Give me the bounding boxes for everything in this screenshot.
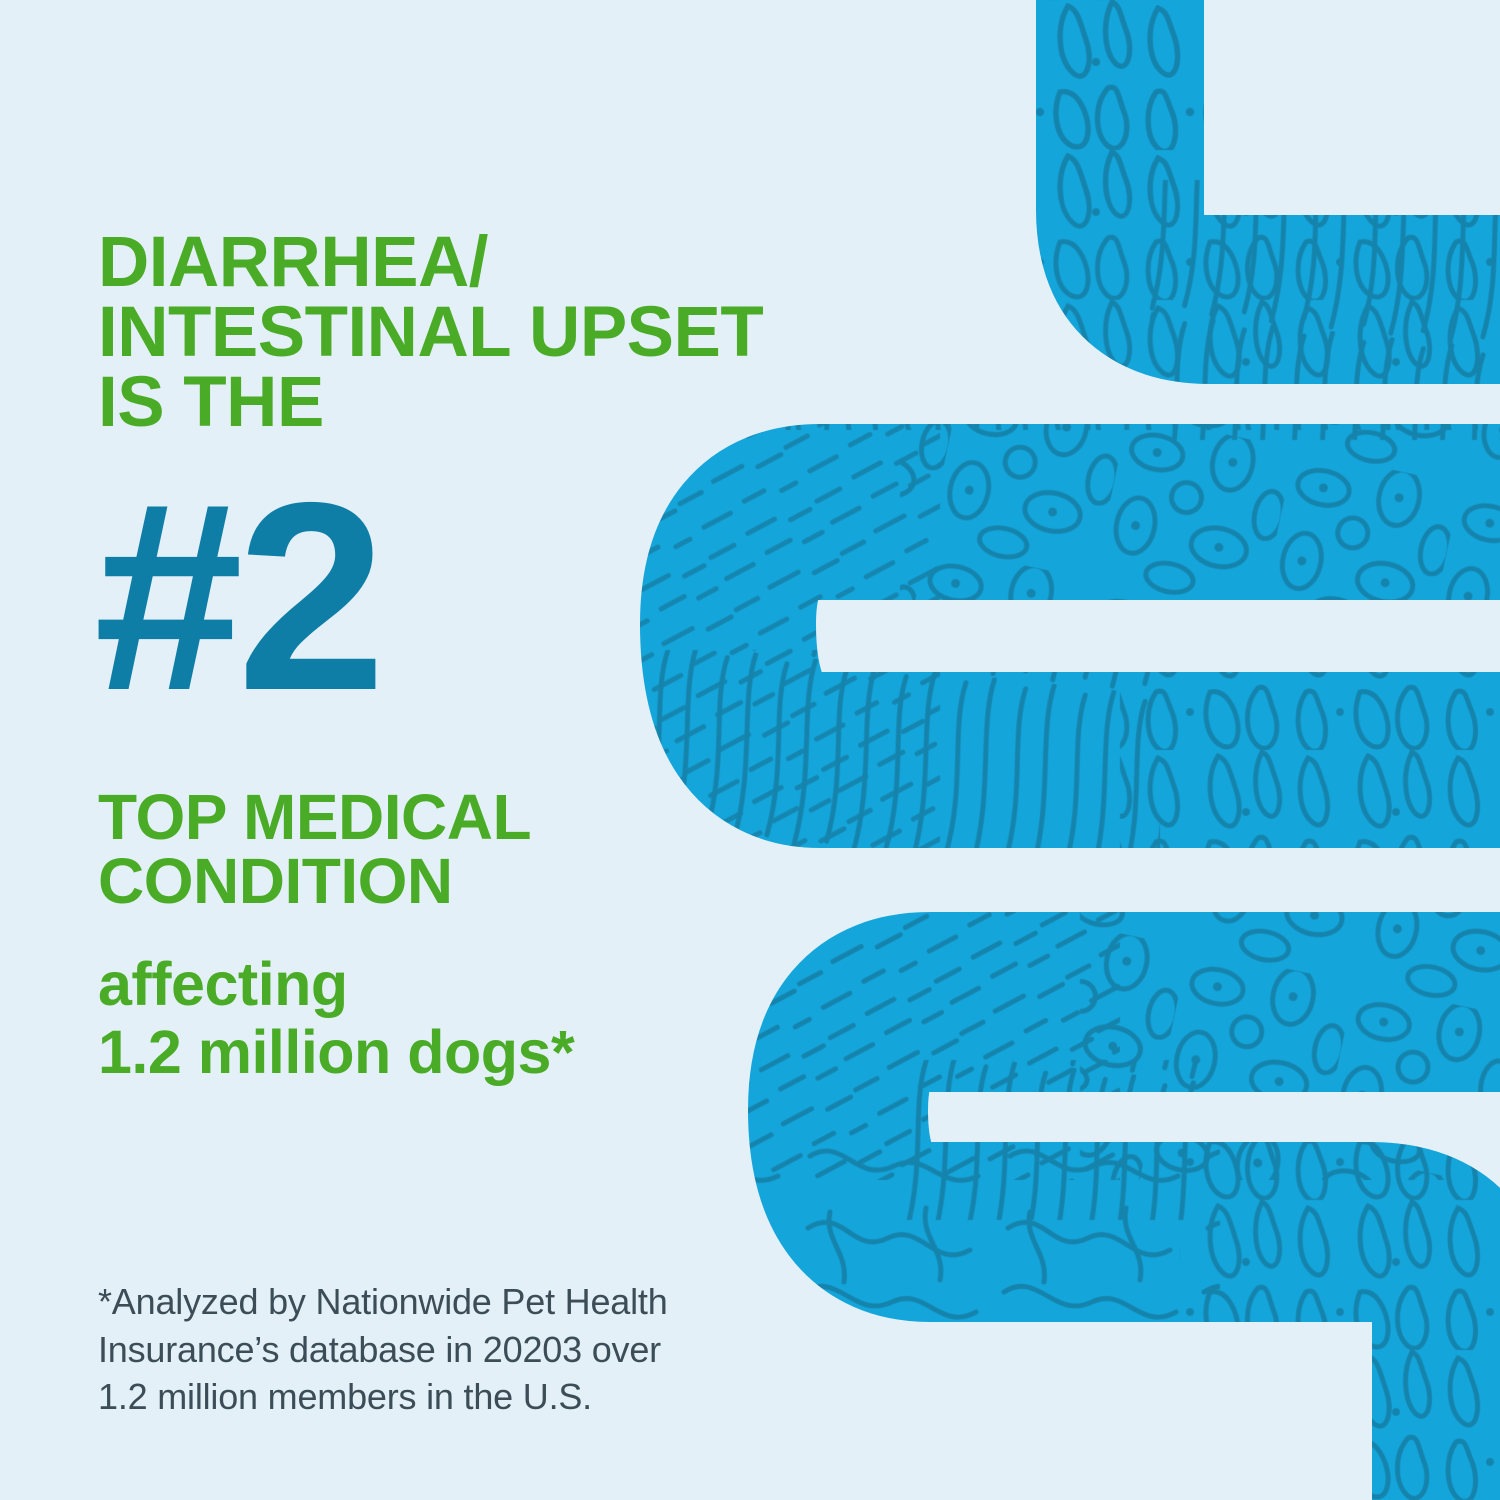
rank-number: #2 xyxy=(94,462,380,730)
headline: DIARRHEA/ INTESTINAL UPSET IS THE xyxy=(98,228,763,438)
footnote-source: *Analyzed by Nationwide Pet Health Insur… xyxy=(98,1278,668,1421)
infographic-canvas: DIARRHEA/ INTESTINAL UPSET IS THE #2 TOP… xyxy=(0,0,1500,1500)
subhead-affecting: affecting 1.2 million dogs* xyxy=(98,950,574,1087)
subhead-condition: TOP MEDICAL CONDITION xyxy=(98,785,531,913)
text-layer: DIARRHEA/ INTESTINAL UPSET IS THE #2 TOP… xyxy=(0,0,1500,1500)
